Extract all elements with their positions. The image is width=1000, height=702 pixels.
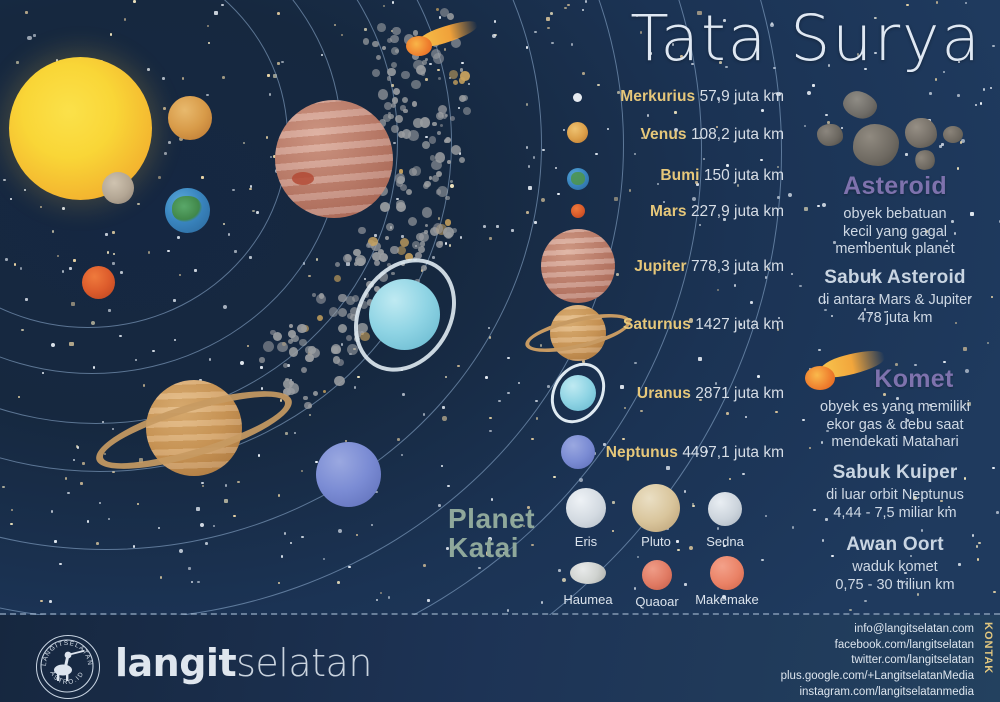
planet-row: Merkurius 57,9 juta km [620, 88, 784, 106]
thumb-jupiter [541, 229, 615, 303]
planet-name: Mars [650, 203, 687, 220]
asteroid-rock [853, 124, 899, 166]
section-sabuk-kuiper: Sabuk Kuiper di luar orbit Neptunus4,44 … [795, 462, 995, 522]
asteroid-rock [943, 126, 963, 143]
solar-system-infographic: Tata Surya Merkurius 57,9 juta kmVenus 1… [0, 0, 1000, 702]
asteroid-cluster [815, 92, 990, 172]
komet-body: obyek es yang memilikiekor gas & debu sa… [795, 399, 995, 452]
dwarf-planet-body [708, 492, 742, 526]
sabuk-kuiper-heading: Sabuk Kuiper [795, 462, 995, 484]
contact-line[interactable]: facebook.com/langitselatan [754, 638, 974, 654]
planet-name: Merkurius [620, 88, 695, 105]
dwarf-planet-body [566, 488, 606, 528]
section-sabuk-asteroid: Sabuk Asteroid di antara Mars & Jupiter4… [795, 267, 995, 327]
planet-thumbnail-column [0, 0, 600, 560]
asteroid-rock [840, 87, 880, 122]
asteroid-rock [905, 118, 937, 148]
section-awan-oort: Awan Oort waduk komet0,75 - 30 triliun k… [795, 534, 995, 594]
sabuk-asteroid-body: di antara Mars & Jupiter478 juta km [795, 292, 995, 327]
brand-bold: langit [115, 641, 236, 685]
thumb-neptune [561, 435, 595, 469]
planet-distance: 150 juta km [704, 167, 784, 184]
awan-oort-body: waduk komet0,75 - 30 triliun km [795, 559, 995, 594]
planet-row: Jupiter 778,3 juta km [634, 258, 784, 276]
awan-oort-heading: Awan Oort [795, 534, 995, 556]
dwarf-planet-label: Sedna [665, 534, 785, 549]
thumb-earth-land [571, 172, 585, 185]
sabuk-kuiper-body: di luar orbit Neptunus4,44 - 7,5 miliar … [795, 487, 995, 522]
section-asteroid: Asteroid obyek bebatuankecil yang gagalm… [795, 172, 995, 259]
planet-row: Neptunus 4497,1 juta km [606, 444, 784, 462]
planet-name: Uranus [637, 385, 691, 402]
brand-light: selatan [236, 641, 372, 685]
planet-distance: 2871 juta km [695, 385, 784, 402]
planet-row: Bumi 150 juta km [660, 167, 784, 185]
contact-line[interactable]: plus.google.com/+LangitselatanMedia [754, 669, 974, 685]
brand-wordmark: langitselatan [115, 641, 372, 685]
dwarf-planet-body [642, 560, 672, 590]
planet-name: Bumi [660, 167, 699, 184]
planet-row: Mars 227,9 juta km [650, 203, 784, 221]
planet-row: Venus 108,2 juta km [640, 126, 784, 144]
contact-list: info@langitselatan.comfacebook.com/langi… [754, 622, 974, 700]
planet-row: Saturnus 1427 juta km [623, 316, 784, 334]
planet-name: Neptunus [606, 444, 678, 461]
contact-line[interactable]: instagram.com/langitselatanmedia [754, 685, 974, 701]
planet-name: Venus [640, 126, 686, 143]
contact-line[interactable]: info@langitselatan.com [754, 622, 974, 638]
sabuk-asteroid-heading: Sabuk Asteroid [795, 267, 995, 289]
planet-distance: 108,2 juta km [691, 126, 784, 143]
planet-distance: 1427 juta km [695, 316, 784, 333]
dwarf-planet-body [632, 484, 680, 532]
asteroid-body: obyek bebatuankecil yang gagalmembentuk … [795, 206, 995, 259]
thumb-mercury [573, 93, 582, 102]
planet-distance: 778,3 juta km [691, 258, 784, 275]
komet-heading: Komet [833, 365, 995, 394]
planet-name: Jupiter [634, 258, 686, 275]
dwarf-planet-label: Makemake [667, 592, 787, 607]
page-title: Tata Surya [630, 2, 982, 75]
planet-distance: 227,9 juta km [691, 203, 784, 220]
asteroid-rock [912, 147, 938, 173]
planet-row: Uranus 2871 juta km [637, 385, 784, 403]
section-komet: Komet obyek es yang memilikiekor gas & d… [795, 365, 995, 452]
planet-distance: 57,9 juta km [700, 88, 784, 105]
asteroid-rock [817, 124, 843, 146]
kontak-label: KONTAK [982, 622, 994, 674]
thumb-venus [567, 122, 588, 143]
contact-line[interactable]: twitter.com/langitselatan [754, 653, 974, 669]
planet-distance: 4497,1 juta km [682, 444, 784, 461]
dwarf-planet-body [710, 556, 744, 590]
dwarf-planet-body [570, 562, 606, 584]
asteroid-heading: Asteroid [795, 172, 995, 201]
planet-name: Saturnus [623, 316, 691, 333]
thumb-mars [571, 204, 585, 218]
langitselatan-logo: LANGITSELATAN ASTRO.ID [36, 635, 100, 699]
